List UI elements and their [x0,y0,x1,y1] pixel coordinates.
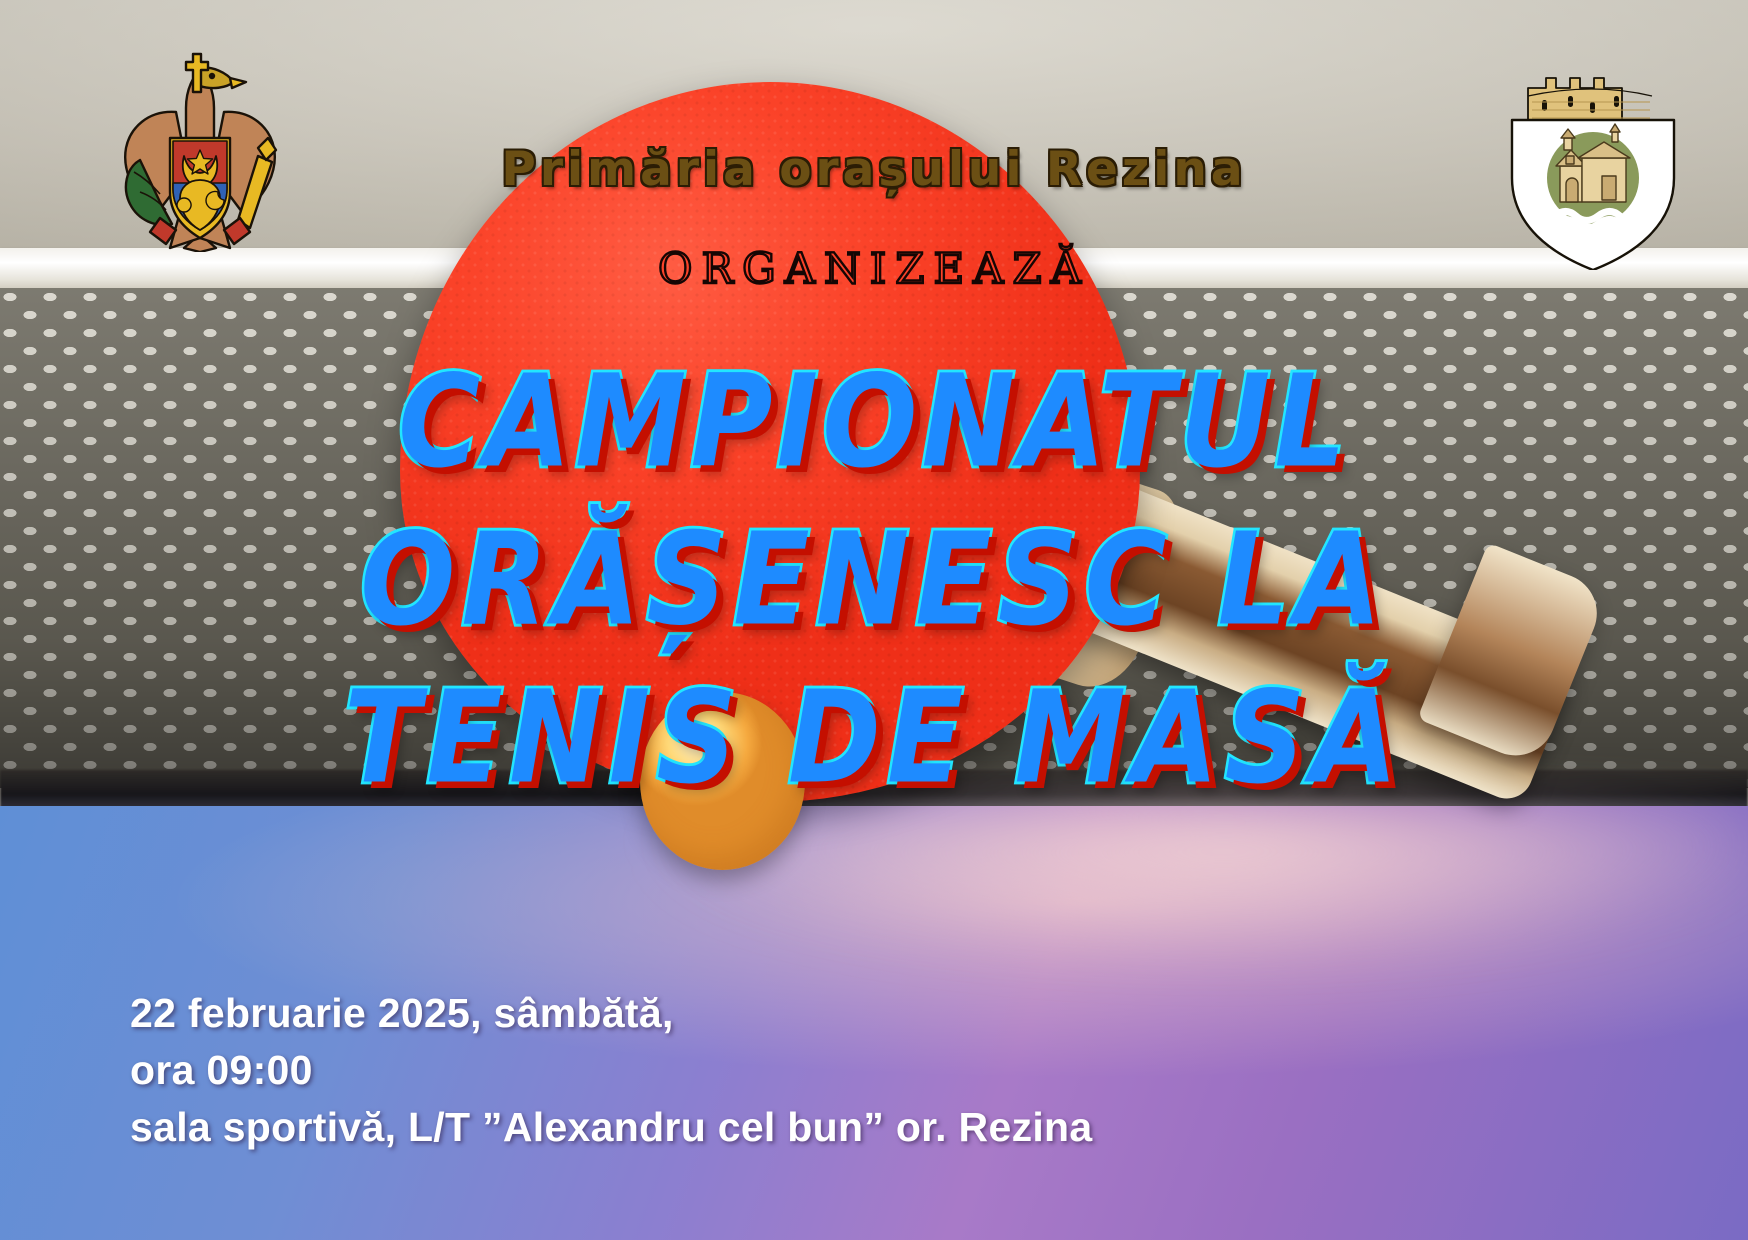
event-title-line-2: ORĂȘENESC LA [0,490,1748,670]
event-details: 22 februarie 2025, sâmbătă, ora 09:00 sa… [130,985,1330,1156]
event-poster: Primăria orașului Rezina ORGANIZEAZĂ CAM… [0,0,1748,1240]
event-title-line-1: CAMPIONATUL [0,332,1748,512]
organizes-label: ORGANIZEAZĂ [0,244,1748,293]
event-venue: sala sportivă, L/T ”Alexandru cel bun” o… [130,1099,1330,1156]
event-time: ora 09:00 [130,1042,1330,1099]
page-title: Primăria orașului Rezina [0,142,1748,197]
event-date: 22 februarie 2025, sâmbătă, [130,985,1330,1042]
event-title: CAMPIONATUL ORĂȘENESC LA TENIS DE MASĂ [0,332,1748,806]
event-title-line-3: TENIS DE MASĂ [0,648,1748,828]
